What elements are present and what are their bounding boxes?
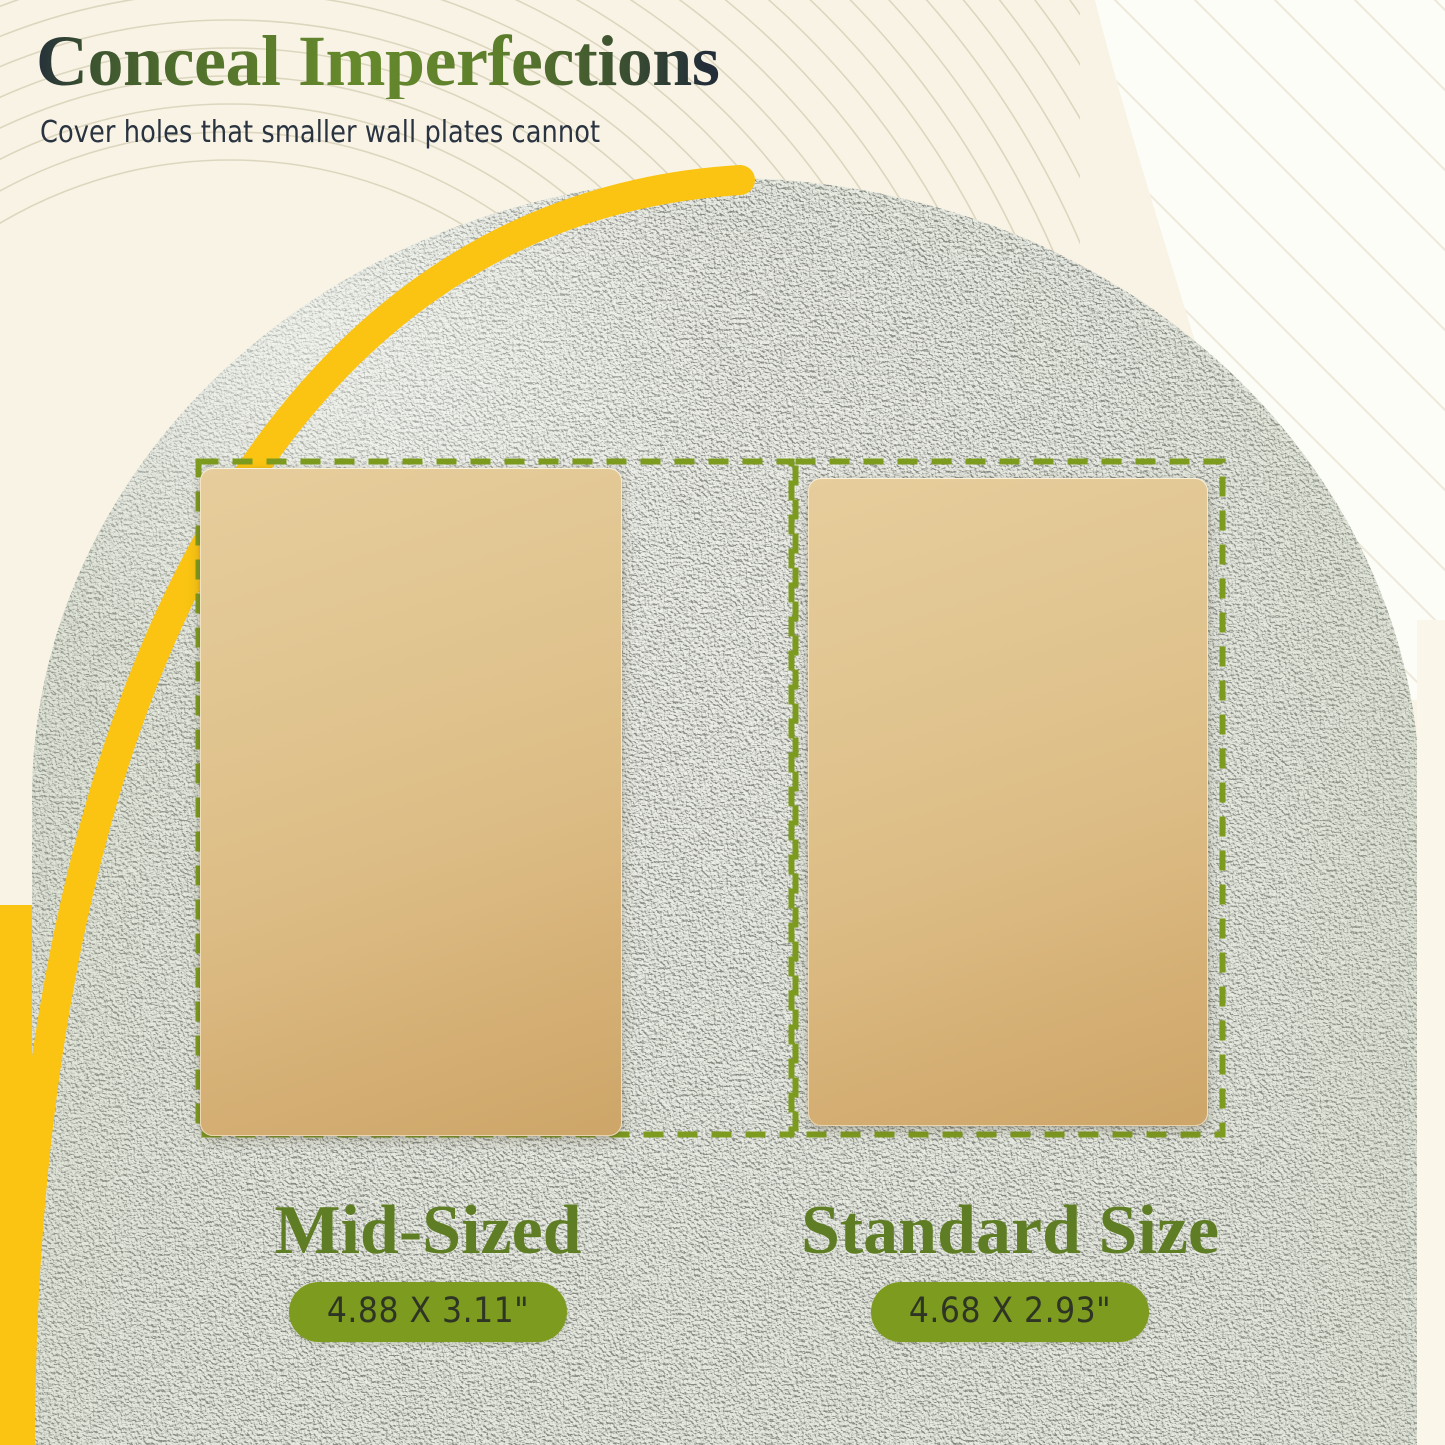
mid-sized-wall-plate[interactable]	[200, 468, 622, 1136]
page-title: Conceal Imperfections	[36, 24, 719, 99]
dimension-badge-mid-sized[interactable]: 4.88 X 3.11"	[289, 1282, 567, 1342]
yellow-accent-bar	[0, 905, 32, 1445]
standard-size-wall-plate[interactable]	[808, 478, 1208, 1126]
caption-mid-sized: Mid-Sized 4.88 X 3.11"	[128, 1196, 728, 1342]
infographic-canvas: Conceal Imperfections Cover holes that s…	[0, 0, 1445, 1445]
product-name-standard-size: Standard Size	[700, 1196, 1320, 1266]
dimension-badge-standard-size[interactable]: 4.68 X 2.93"	[871, 1282, 1149, 1342]
caption-standard-size: Standard Size 4.68 X 2.93"	[700, 1196, 1320, 1342]
dimension-text-standard-size: 4.68 X 2.93"	[909, 1291, 1111, 1331]
dimension-text-mid-sized: 4.88 X 3.11"	[327, 1291, 529, 1331]
product-name-mid-sized: Mid-Sized	[128, 1196, 728, 1266]
page-subtitle: Cover holes that smaller wall plates can…	[40, 115, 600, 150]
right-cream-margin	[1417, 620, 1445, 1445]
